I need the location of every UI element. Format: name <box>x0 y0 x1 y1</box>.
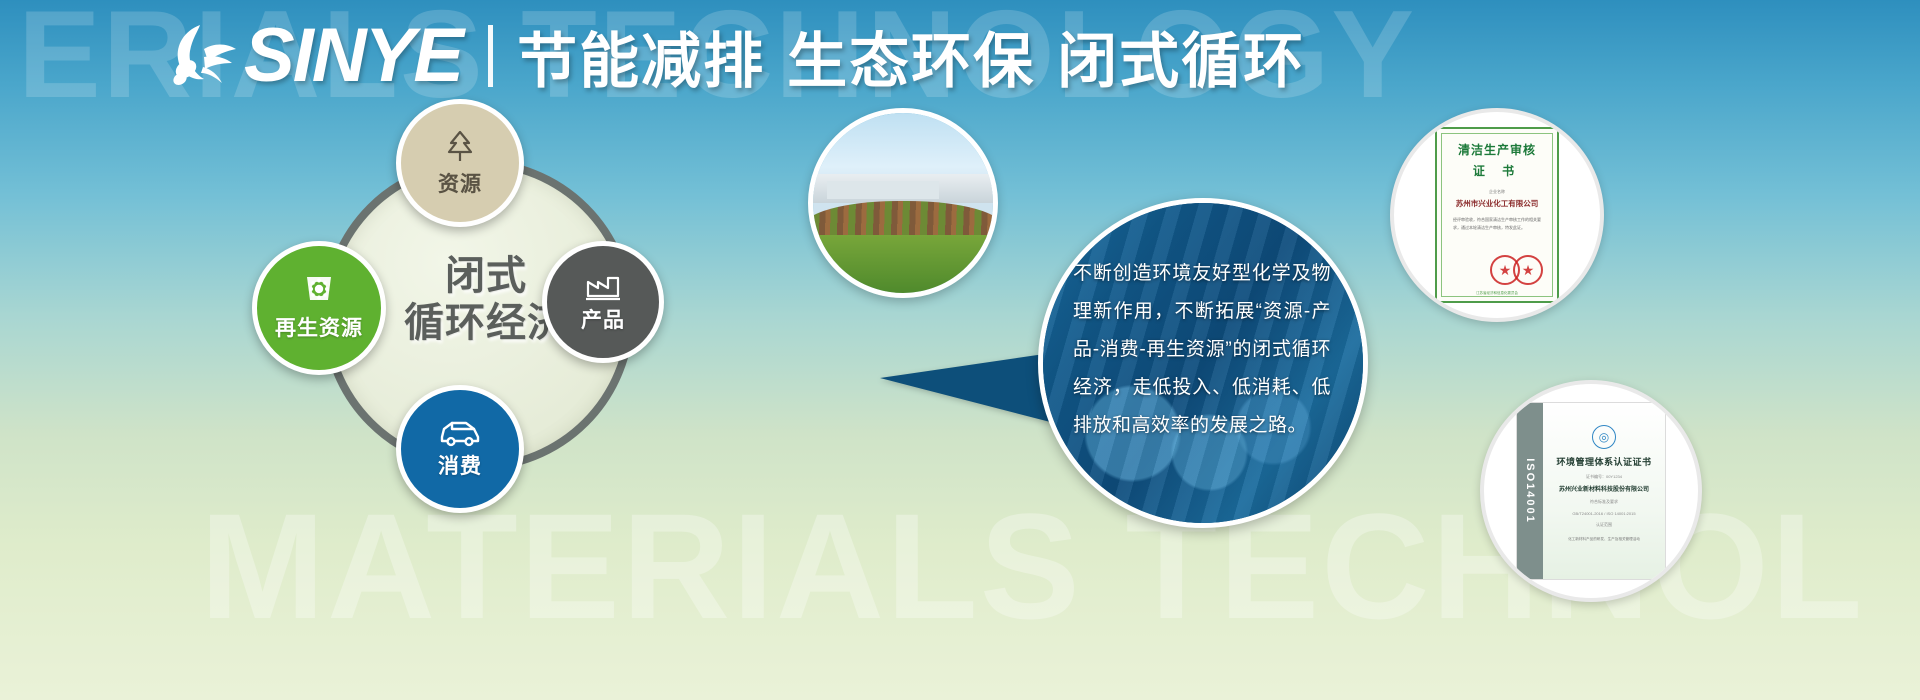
diagram-node-renewable[interactable]: 再生资源 <box>252 241 386 375</box>
slogan-part-3: 闭式循环 <box>1057 28 1305 95</box>
speech-bubble-tail <box>880 352 1058 424</box>
cert2-main: ◎ 环境管理体系认证证书 证书编号：00Y1234 苏州兴业新材料科技股份有限公… <box>1543 403 1665 579</box>
node-label-consume: 消费 <box>438 450 482 480</box>
diagram-node-resource[interactable]: 资源 <box>396 99 524 227</box>
header-divider <box>488 25 493 87</box>
tree-icon <box>440 128 480 166</box>
circular-economy-diagram: 闭式 循环经济 资源 产品 <box>268 105 688 525</box>
cert1-title-line1: 清洁生产审核 <box>1458 141 1536 158</box>
node-label-product: 产品 <box>581 304 625 334</box>
cert2-paper: ISO14001 ◎ 环境管理体系认证证书 证书编号：00Y1234 苏州兴业新… <box>1516 402 1666 580</box>
banner-header: SINYE 节能减排生态环保闭式循环 <box>170 8 1305 104</box>
cert1-company: 苏州市兴业化工有限公司 <box>1456 198 1539 209</box>
certificate-clean-production[interactable]: 清洁生产审核 证 书 企业名称 苏州市兴业化工有限公司 经评审验收，符合国家清洁… <box>1390 108 1604 322</box>
brand-logo-text: SINYE <box>244 18 462 94</box>
cert2-spine-text: ISO14001 <box>1524 458 1536 524</box>
node-label-resource: 资源 <box>438 168 482 198</box>
slogan-part-1: 节能减排 <box>517 28 765 95</box>
factory-photo-circle <box>808 108 998 298</box>
bubble-text: 不断创造环境友好型化学及物理新作用，不断拓展“资源-产品-消费-再生资源”的闭式… <box>1073 255 1331 445</box>
cert1-title-line2: 证 书 <box>1473 162 1521 179</box>
cert1-body: 经评审验收，符合国家清洁生产审核工作的相关要求，通过本轮清洁生产审核，特发此证。 <box>1453 216 1541 231</box>
header-slogan: 节能减排生态环保闭式循环 <box>517 13 1305 100</box>
cert2-spine: ISO14001 <box>1517 403 1543 579</box>
speech-bubble: 不断创造环境友好型化学及物理新作用，不断拓展“资源-产品-消费-再生资源”的闭式… <box>1038 198 1368 528</box>
photo-lawn <box>813 235 993 293</box>
certificate-iso14001[interactable]: ISO14001 ◎ 环境管理体系认证证书 证书编号：00Y1234 苏州兴业新… <box>1480 380 1702 602</box>
cert2-standard-label: 符合标准及要求 <box>1590 499 1618 505</box>
slogan-part-2: 生态环保 <box>787 28 1035 95</box>
cert2-company: 苏州兴业新材料科技股份有限公司 <box>1559 484 1649 493</box>
cert1-seal-right: ★ <box>1513 255 1543 285</box>
cert2-scope-label: 认证范围 <box>1596 522 1612 528</box>
banner-stage: ERIALS TECHNOLOGY MATERIALS TECHNOL SINY… <box>0 0 1920 700</box>
cert2-title: 环境管理体系认证证书 <box>1556 455 1651 468</box>
photo-building-secondary <box>827 181 939 199</box>
factory-icon <box>584 270 622 302</box>
cert2-accreditation-logo-icon: ◎ <box>1592 425 1616 449</box>
recycle-gear-icon <box>299 274 339 310</box>
cert1-sub-label: 企业名称 <box>1489 189 1505 195</box>
diagram-node-product[interactable]: 产品 <box>542 241 664 363</box>
cert2-standard: GB/T24001-2016 / ISO 14001:2015 <box>1572 511 1635 516</box>
leaf-splash-icon <box>170 23 240 89</box>
cert1-seals: ★ ★ <box>1497 255 1543 285</box>
node-label-renewable: 再生资源 <box>275 312 363 342</box>
car-icon <box>438 418 482 448</box>
cert1-footer: 江苏省经济和信息化委员会 <box>1437 291 1557 296</box>
diagram-node-consume[interactable]: 消费 <box>396 385 524 513</box>
cert2-scope: 化工新材料产品的研发、生产及相关管理活动 <box>1556 536 1652 544</box>
cert1-paper: 清洁生产审核 证 书 企业名称 苏州市兴业化工有限公司 经评审验收，符合国家清洁… <box>1435 127 1559 303</box>
cert2-cert-no: 证书编号：00Y1234 <box>1586 474 1622 480</box>
